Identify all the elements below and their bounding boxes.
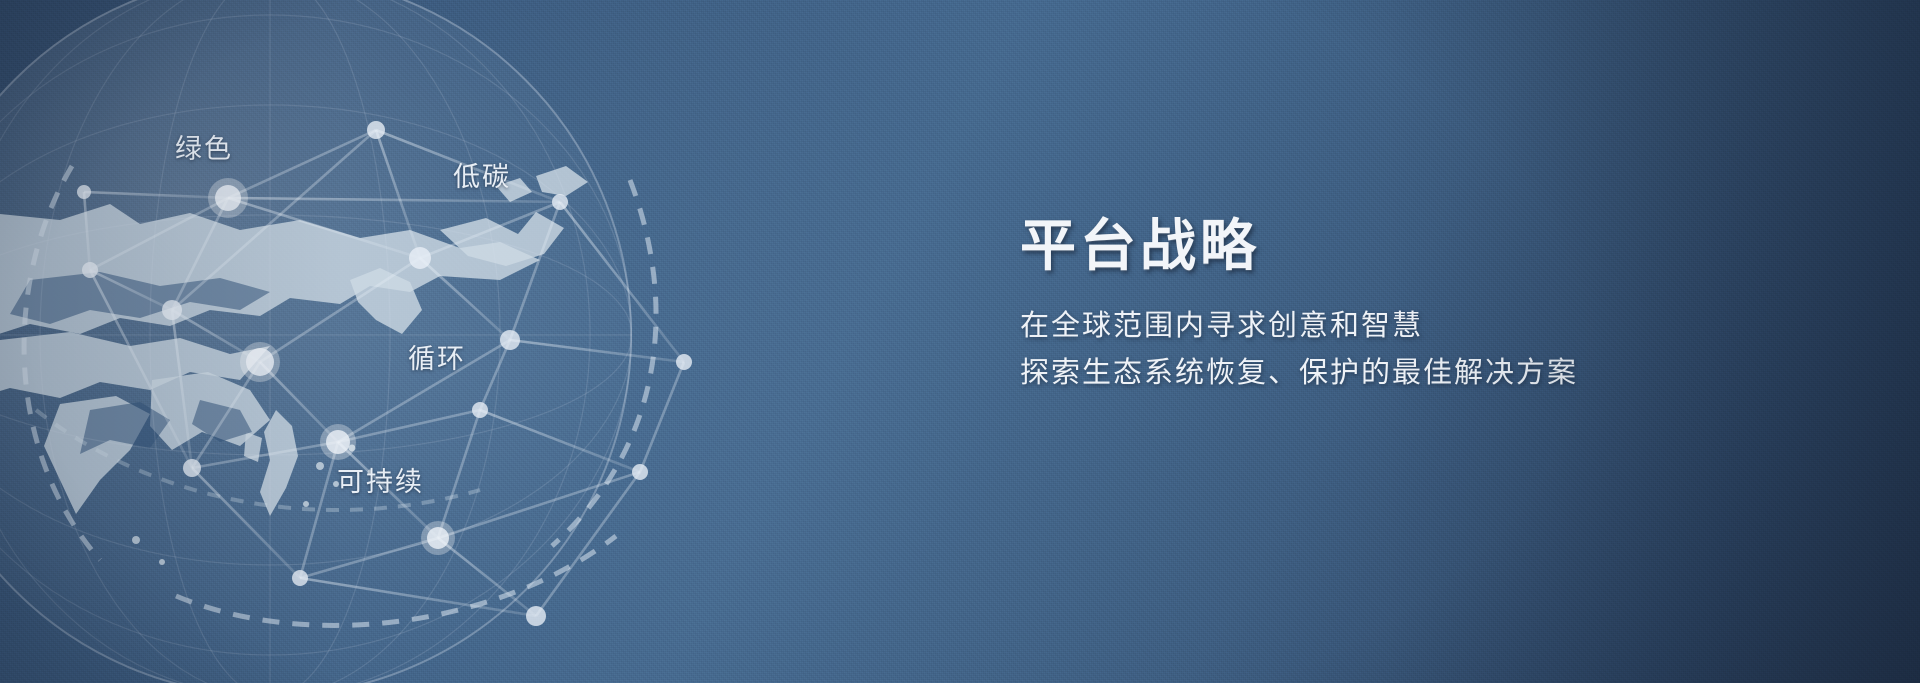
globe-label-low-carbon: 低碳	[453, 155, 511, 194]
hero-subtitle-line-2: 探索生态系统恢复、保护的最佳解决方案	[1020, 350, 1780, 397]
globe-label-sustainable: 可持续	[337, 460, 424, 499]
hero-banner: 绿色 低碳 循环 可持续 平台战略 在全球范围内寻求创意和智慧 探索生态系统恢复…	[0, 0, 1920, 683]
hero-subtitle-list: 在全球范围内寻求创意和智慧 探索生态系统恢复、保护的最佳解决方案	[1020, 303, 1780, 397]
globe-label-recycle: 循环	[408, 337, 466, 376]
page-title: 平台战略	[1020, 215, 1780, 277]
hero-text-block: 平台战略 在全球范围内寻求创意和智慧 探索生态系统恢复、保护的最佳解决方案	[1020, 215, 1780, 397]
globe-label-green: 绿色	[175, 127, 233, 166]
hero-subtitle-line-1: 在全球范围内寻求创意和智慧	[1020, 303, 1780, 350]
